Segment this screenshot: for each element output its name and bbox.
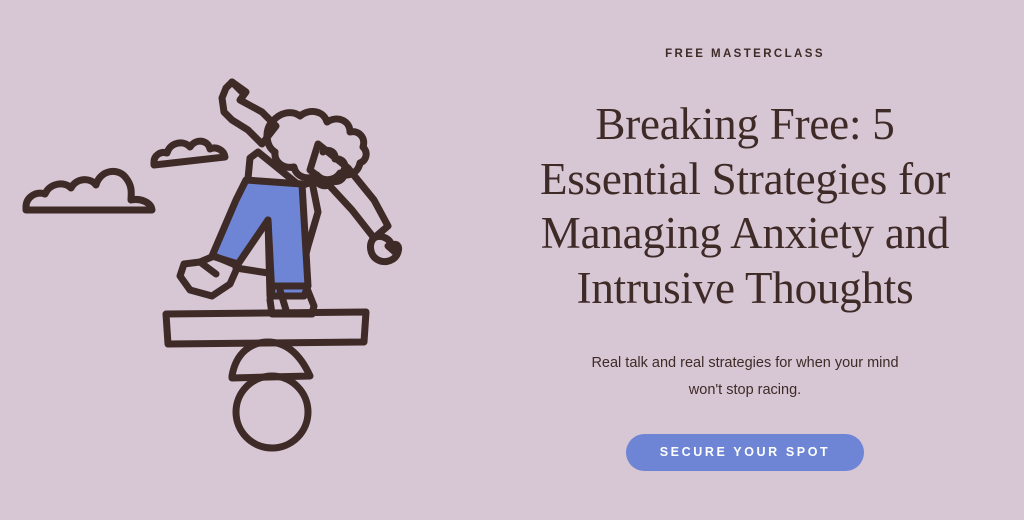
eyebrow-label: FREE MASTERCLASS [665,49,825,61]
page-title: Breaking Free: 5 Essential Strategies fo… [510,97,980,317]
cloud-large-icon [26,171,152,210]
cloud-small-icon [154,141,225,165]
hero-subtitle: Real talk and real strategies for when y… [580,350,910,404]
figure-shoe-left [180,256,238,296]
figure-raised-arm [222,82,276,144]
secure-your-spot-button[interactable]: SECURE YOUR SPOT [626,434,865,471]
balance-circle [236,376,308,448]
figure-trousers [212,180,308,296]
hero-copy-column: FREE MASTERCLASS Breaking Free: 5 Essent… [500,0,990,520]
figure-lowered-arm [310,144,399,262]
person-balancing-illustration [0,60,440,460]
hero-section: FREE MASTERCLASS Breaking Free: 5 Essent… [0,0,1024,520]
